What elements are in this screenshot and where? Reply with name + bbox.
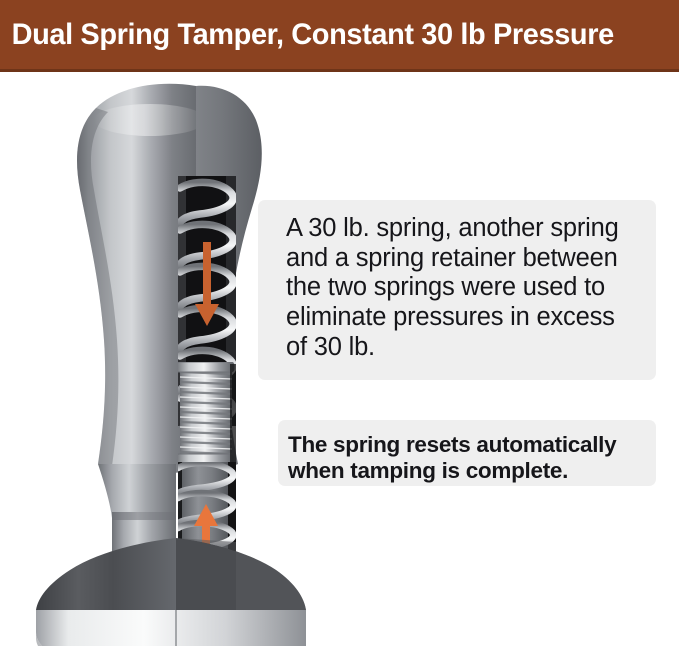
callout-2-text: The spring resets automatically when tam…: [288, 432, 646, 483]
tamper-base-rim: [36, 610, 306, 646]
product-stage: A 30 lb. spring, another spring and a sp…: [0, 72, 679, 646]
callout-1-text: A 30 lb. spring, another spring and a sp…: [286, 214, 644, 363]
page-title: Dual Spring Tamper, Constant 30 lb Press…: [0, 20, 614, 50]
callout-box-reset-detail: The spring resets automatically when tam…: [278, 420, 656, 486]
tamper-base-dome: [36, 538, 306, 610]
header-banner: Dual Spring Tamper, Constant 30 lb Press…: [0, 0, 679, 72]
callout-box-spring-detail: A 30 lb. spring, another spring and a sp…: [258, 200, 656, 380]
spring-retainer: [176, 362, 236, 464]
